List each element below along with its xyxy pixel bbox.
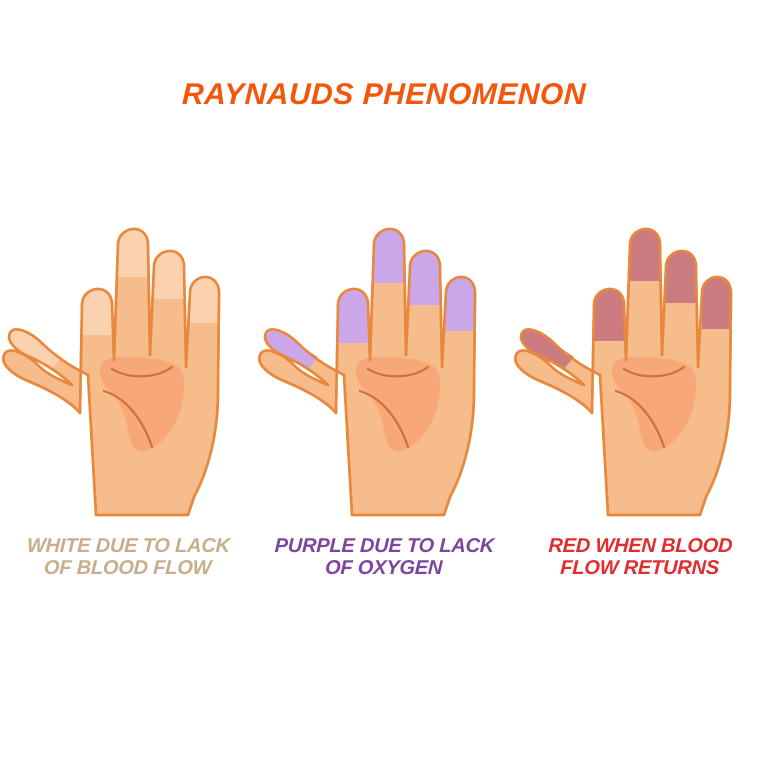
caption-white-phase: WHITE DUE TO LACK OF BLOOD FLOW [2, 535, 254, 580]
caption-line-2: FLOW RETURNS [514, 557, 765, 579]
middle-tip [630, 229, 660, 281]
middle-tip [374, 229, 404, 283]
phase-panels: WHITE DUE TO LACK OF BLOOD FLOW [0, 185, 768, 605]
phase-panel-white: WHITE DUE TO LACK OF BLOOD FLOW [0, 185, 256, 580]
caption-line-1: RED WHEN BLOOD [515, 535, 766, 557]
hand-purple-phase-illustration [256, 185, 512, 525]
hand-red-phase-illustration [512, 185, 768, 525]
caption-purple-phase: PURPLE DUE TO LACK OF OXYGEN [258, 535, 510, 580]
phase-panel-red: RED WHEN BLOOD FLOW RETURNS [512, 185, 768, 580]
caption-line-1: PURPLE DUE TO LACK [259, 535, 510, 557]
caption-line-2: OF OXYGEN [258, 557, 509, 579]
ring-tip [410, 251, 440, 305]
caption-line-2: OF BLOOD FLOW [2, 557, 253, 579]
ring-tip [154, 251, 184, 299]
index-tip [338, 289, 368, 343]
infographic-canvas: RAYNAUDS PHENOMENON [0, 0, 768, 768]
pinky-tip [702, 277, 731, 329]
middle-tip [118, 229, 148, 277]
page-title: RAYNAUDS PHENOMENON [0, 78, 768, 112]
caption-red-phase: RED WHEN BLOOD FLOW RETURNS [514, 535, 766, 580]
pinky-tip [446, 277, 475, 331]
index-tip [594, 289, 624, 341]
caption-line-1: WHITE DUE TO LACK [3, 535, 254, 557]
phase-panel-purple: PURPLE DUE TO LACK OF OXYGEN [256, 185, 512, 580]
hand-white-phase-illustration [0, 185, 256, 525]
pinky-tip [190, 277, 219, 323]
index-tip [82, 289, 112, 335]
ring-tip [666, 251, 696, 303]
